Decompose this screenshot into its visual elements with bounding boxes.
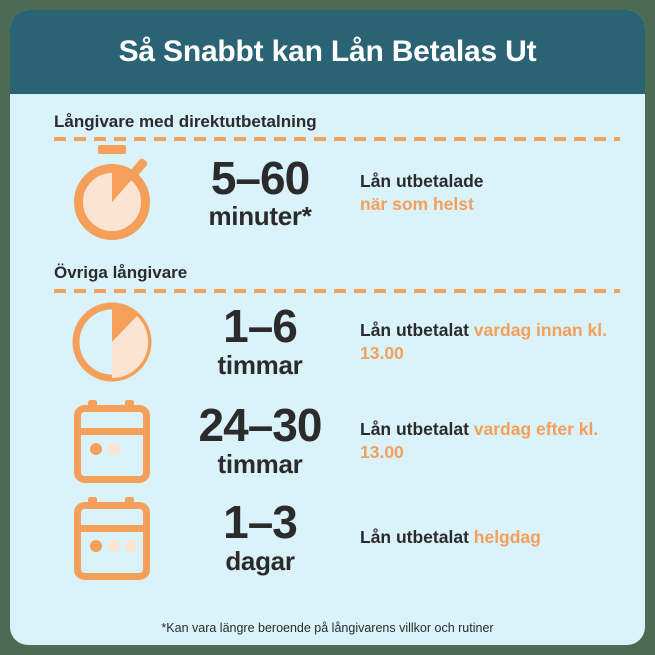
value-calendar-hours: 24–30 timmar (170, 403, 350, 478)
section-heading: Övriga långivare (32, 263, 623, 283)
value-number: 5–60 (170, 156, 350, 201)
description-stopwatch: Lån utbetalade när som helst (350, 170, 623, 216)
value-number: 1–3 (170, 500, 350, 545)
value-unit: minuter* (170, 202, 350, 231)
description-accent: helgdag (474, 527, 541, 547)
value-number: 24–30 (170, 403, 350, 448)
header-bar: Så Snabbt kan Lån Betalas Ut (10, 10, 645, 94)
value-unit: dagar (170, 547, 350, 576)
footnote: *Kan vara längre beroende på långivarens… (10, 621, 645, 635)
calendar-two-dots-icon (54, 398, 170, 484)
value-unit: timmar (170, 351, 350, 380)
row-pie-clock: 1–6 timmar Lån utbetalat vardag innan kl… (32, 293, 623, 391)
pie-clock-icon (54, 299, 170, 385)
infographic-card: Så Snabbt kan Lån Betalas Ut Långivare m… (10, 10, 645, 645)
row-stopwatch: 5–60 minuter* Lån utbetalade när som hel… (32, 141, 623, 245)
infographic-body: Långivare med direktutbetalning 5–60 min… (10, 94, 645, 645)
value-pie-clock: 1–6 timmar (170, 304, 350, 379)
stopwatch-icon (54, 145, 170, 241)
calendar-three-dots-icon (54, 495, 170, 581)
description-calendar-days: Lån utbetalat helgdag (350, 526, 623, 549)
description-pie-clock: Lån utbetalat vardag innan kl. 13.00 (350, 319, 623, 365)
page-title: Så Snabbt kan Lån Betalas Ut (119, 37, 537, 67)
value-unit: timmar (170, 450, 350, 479)
description-dark: Lån utbetalade (360, 171, 484, 191)
description-dark: Lån utbetalat (360, 527, 474, 547)
value-calendar-days: 1–3 dagar (170, 500, 350, 575)
row-calendar-days: 1–3 dagar Lån utbetalat helgdag (32, 491, 623, 585)
section-direct-payout: Långivare med direktutbetalning (32, 112, 623, 141)
row-calendar-hours: 24–30 timmar Lån utbetalat vardag efter … (32, 391, 623, 491)
section-other-lenders: Övriga långivare (32, 263, 623, 292)
value-stopwatch: 5–60 minuter* (170, 156, 350, 231)
description-accent: när som helst (360, 194, 474, 214)
description-calendar-hours: Lån utbetalat vardag efter kl. 13.00 (350, 418, 623, 464)
section-heading: Långivare med direktutbetalning (32, 112, 623, 132)
value-number: 1–6 (170, 304, 350, 349)
description-dark: Lån utbetalat (360, 320, 474, 340)
description-dark: Lån utbetalat (360, 419, 474, 439)
